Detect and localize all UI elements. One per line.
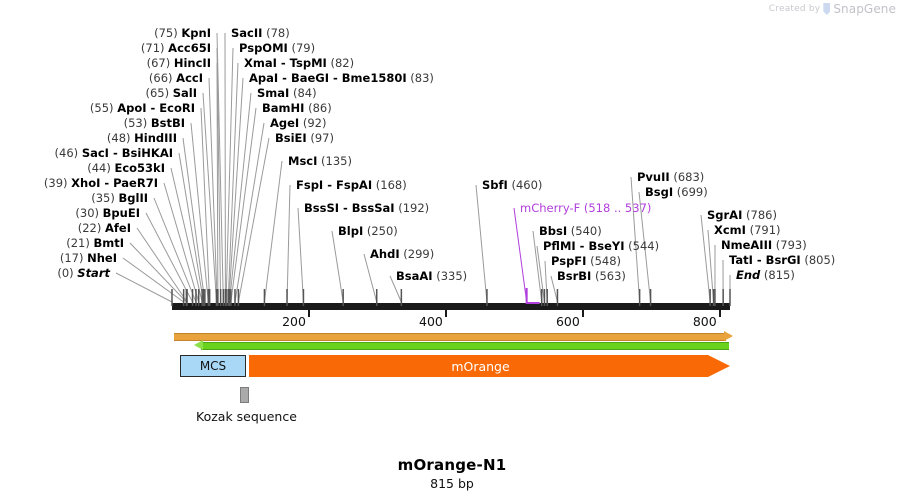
site-position: (17) bbox=[60, 251, 87, 265]
site-position: (786) bbox=[742, 208, 777, 222]
site-position: (250) bbox=[363, 224, 398, 238]
site-label-bsssi-bsssai[interactable]: BssSI - BssSaI (192) bbox=[304, 202, 429, 215]
site-label-xmai-tspmi[interactable]: XmaI - TspMI (82) bbox=[244, 57, 354, 70]
feature-morange[interactable]: mOrange bbox=[249, 355, 730, 377]
site-label-acc65i[interactable]: (71) Acc65I bbox=[0, 42, 211, 55]
kozak-sequence-marker[interactable] bbox=[240, 387, 249, 403]
site-position: (563) bbox=[591, 269, 626, 283]
site-label-nhei[interactable]: (17) NheI bbox=[0, 252, 117, 265]
site-label-bsaai[interactable]: BsaAI (335) bbox=[396, 270, 467, 283]
site-label-end[interactable]: End (815) bbox=[736, 269, 795, 282]
site-position: (79) bbox=[288, 41, 315, 55]
site-position: (335) bbox=[433, 269, 468, 283]
site-position: (66) bbox=[149, 71, 176, 85]
ruler-tick bbox=[445, 310, 447, 317]
site-name: NheI bbox=[87, 251, 117, 265]
site-position: (460) bbox=[508, 178, 543, 192]
site-position: (82) bbox=[327, 56, 354, 70]
site-name: mCherry-F bbox=[520, 201, 580, 215]
site-name: AgeI bbox=[270, 116, 299, 130]
site-name: XmaI - TspMI bbox=[244, 56, 327, 70]
site-label-bsrbi[interactable]: BsrBI (563) bbox=[557, 270, 626, 283]
site-name: BsgI bbox=[645, 185, 673, 199]
site-label-xhoi-paer7i[interactable]: (39) XhoI - PaeR7I bbox=[0, 177, 158, 190]
ruler-tick-label: 400 bbox=[419, 314, 445, 329]
site-name: BssSI - BssSaI bbox=[304, 201, 395, 215]
site-name: PspOMI bbox=[239, 41, 288, 55]
site-position: (83) bbox=[407, 71, 434, 85]
ruler-tick bbox=[582, 310, 584, 317]
site-label-bsiei[interactable]: BsiEI (97) bbox=[275, 132, 334, 145]
feature-morange-label: mOrange bbox=[451, 359, 509, 374]
site-label-sgrai[interactable]: SgrAI (786) bbox=[707, 209, 777, 222]
site-position: (35) bbox=[91, 191, 118, 205]
site-position: (548) bbox=[586, 254, 621, 268]
site-position: (67) bbox=[147, 56, 174, 70]
site-position: (805) bbox=[801, 253, 836, 267]
ruler-tick bbox=[308, 310, 310, 317]
plasmid-name: mOrange-N1 bbox=[0, 456, 904, 474]
site-position: (815) bbox=[760, 268, 795, 282]
site-name: SacII bbox=[231, 26, 262, 40]
site-label-smai[interactable]: SmaI (84) bbox=[257, 87, 317, 100]
site-label-pspfi[interactable]: PspFI (548) bbox=[551, 255, 621, 268]
site-position: (84) bbox=[289, 86, 316, 100]
site-label-acci[interactable]: (66) AccI bbox=[0, 72, 203, 85]
site-name: BamHI bbox=[262, 101, 304, 115]
site-name: BpuEI bbox=[103, 206, 140, 220]
site-name: Acc65I bbox=[168, 41, 211, 55]
ruler-tick bbox=[719, 310, 721, 317]
site-name: PflMI - BseYI bbox=[543, 239, 624, 253]
site-label-blpi[interactable]: BlpI (250) bbox=[338, 225, 398, 238]
site-name: BsiEI bbox=[275, 131, 307, 145]
feature-track: MCS mOrange bbox=[0, 355, 904, 379]
site-name: BbsI bbox=[539, 224, 567, 238]
site-label-apoi-ecori[interactable]: (55) ApoI - EcoRI bbox=[0, 102, 195, 115]
site-label-hindiii[interactable]: (48) HindIII bbox=[0, 132, 177, 145]
plasmid-size: 815 bp bbox=[0, 476, 904, 491]
site-label-nmeaiii[interactable]: NmeAIII (793) bbox=[721, 239, 807, 252]
site-position: (48) bbox=[107, 131, 134, 145]
site-label-bsgi[interactable]: BsgI (699) bbox=[645, 186, 708, 199]
site-name: End bbox=[736, 268, 760, 282]
site-position: (44) bbox=[87, 161, 114, 175]
site-label-saci-bsihkai[interactable]: (46) SacI - BsiHKAI bbox=[0, 147, 173, 160]
site-label-fspi-fspai[interactable]: FspI - FspAI (168) bbox=[296, 179, 407, 192]
site-position: (21) bbox=[66, 236, 93, 250]
sequence-ruler: 200400600800 bbox=[0, 310, 904, 332]
site-position: (30) bbox=[75, 206, 102, 220]
site-name: AfeI bbox=[105, 221, 131, 235]
site-label-sacii[interactable]: SacII (78) bbox=[231, 27, 290, 40]
site-name: XhoI - PaeR7I bbox=[71, 176, 158, 190]
site-position: (683) bbox=[670, 170, 705, 184]
site-label-tati-bsrgi[interactable]: TatI - BsrGI (805) bbox=[729, 254, 835, 267]
feature-mcs[interactable]: MCS bbox=[180, 355, 246, 377]
site-label-bmti[interactable]: (21) BmtI bbox=[0, 237, 124, 250]
site-name: AhdI bbox=[370, 247, 400, 261]
site-label-sbfi[interactable]: SbfI (460) bbox=[482, 179, 542, 192]
site-label-kpni[interactable]: (75) KpnI bbox=[0, 27, 211, 40]
site-name: TatI - BsrGI bbox=[729, 253, 801, 267]
site-name: PspFI bbox=[551, 254, 586, 268]
site-position: (46) bbox=[55, 146, 82, 160]
site-name: BstBI bbox=[151, 116, 185, 130]
site-position: (55) bbox=[90, 101, 117, 115]
site-name: BmtI bbox=[93, 236, 124, 250]
site-name: XcmI bbox=[714, 223, 746, 237]
site-position: (39) bbox=[44, 176, 71, 190]
green-direction-arrow bbox=[201, 342, 729, 348]
site-label-mcherry-f[interactable]: mCherry-F (518 .. 537) bbox=[520, 202, 651, 215]
site-label-bglii[interactable]: (35) BglII bbox=[0, 192, 148, 205]
green-arrow-shaft bbox=[201, 342, 729, 350]
site-name: Eco53kI bbox=[114, 161, 165, 175]
site-name: AccI bbox=[176, 71, 203, 85]
site-position: (793) bbox=[772, 238, 807, 252]
site-name: SmaI bbox=[257, 86, 289, 100]
site-name: NmeAIII bbox=[721, 238, 772, 252]
site-position: (65) bbox=[145, 86, 172, 100]
site-tick-marks bbox=[0, 286, 904, 306]
site-label-bamhi[interactable]: BamHI (86) bbox=[262, 102, 332, 115]
ruler-tick-label: 800 bbox=[693, 314, 719, 329]
site-name: HindIII bbox=[134, 131, 177, 145]
site-name: SgrAI bbox=[707, 208, 742, 222]
ruler-tick-label: 600 bbox=[556, 314, 582, 329]
site-position: (518 .. 537) bbox=[580, 201, 651, 215]
site-label-apai-baegi-bme1580i[interactable]: ApaI - BaeGI - Bme1580I (83) bbox=[249, 72, 434, 85]
site-position: (53) bbox=[124, 116, 151, 130]
feature-mcs-label: MCS bbox=[200, 359, 226, 373]
site-position: (97) bbox=[307, 131, 334, 145]
site-label-sali[interactable]: (65) SalI bbox=[0, 87, 197, 100]
site-position: (78) bbox=[262, 26, 289, 40]
site-name: HincII bbox=[174, 56, 211, 70]
site-label-xcmi[interactable]: XcmI (791) bbox=[714, 224, 781, 237]
site-position: (135) bbox=[317, 154, 352, 168]
site-position: (168) bbox=[372, 178, 407, 192]
green-arrow-head bbox=[194, 340, 203, 350]
kozak-sequence-label: Kozak sequence bbox=[196, 409, 297, 424]
orange-arrow-shaft bbox=[174, 333, 726, 341]
site-label-ahdi[interactable]: AhdI (299) bbox=[370, 248, 434, 261]
site-name: SacI - BsiHKAI bbox=[82, 146, 173, 160]
site-label-eco53ki[interactable]: (44) Eco53kI bbox=[0, 162, 165, 175]
site-position: (71) bbox=[141, 41, 168, 55]
orange-direction-arrow bbox=[174, 333, 726, 339]
site-label-bpuei[interactable]: (30) BpuEI bbox=[0, 207, 140, 220]
site-position: (192) bbox=[395, 201, 430, 215]
site-label-start[interactable]: (0) Start bbox=[0, 267, 110, 280]
site-position: (22) bbox=[78, 221, 105, 235]
site-name: PvuII bbox=[637, 170, 670, 184]
site-label-hincii[interactable]: (67) HincII bbox=[0, 57, 211, 70]
site-name: BglII bbox=[119, 191, 149, 205]
title-block: mOrange-N1 815 bp bbox=[0, 456, 904, 491]
mcherry-f-marker[interactable] bbox=[527, 288, 540, 303]
site-label-msci[interactable]: MscI (135) bbox=[288, 155, 352, 168]
site-name: FspI - FspAI bbox=[296, 178, 372, 192]
site-name: BlpI bbox=[338, 224, 363, 238]
site-position: (699) bbox=[673, 185, 708, 199]
site-name: ApaI - BaeGI - Bme1580I bbox=[249, 71, 407, 85]
snapgene-map-canvas: Created by SnapGene (75) KpnI(71) Acc65I… bbox=[0, 0, 904, 498]
site-name: SbfI bbox=[482, 178, 508, 192]
site-name: Start bbox=[77, 266, 110, 280]
ruler-tick-label: 200 bbox=[282, 314, 308, 329]
site-position: (0) bbox=[57, 266, 77, 280]
site-label-agei[interactable]: AgeI (92) bbox=[270, 117, 326, 130]
site-name: ApoI - EcoRI bbox=[117, 101, 195, 115]
site-label-bbsi[interactable]: BbsI (540) bbox=[539, 225, 602, 238]
site-position: (86) bbox=[304, 101, 331, 115]
site-position: (75) bbox=[154, 26, 181, 40]
site-label-pspomi[interactable]: PspOMI (79) bbox=[239, 42, 315, 55]
site-name: BsaAI bbox=[396, 269, 433, 283]
site-label-afei[interactable]: (22) AfeI bbox=[0, 222, 131, 235]
restriction-site-labels: (75) KpnI(71) Acc65I(67) HincII(66) AccI… bbox=[0, 0, 904, 300]
site-position: (92) bbox=[299, 116, 326, 130]
site-position: (299) bbox=[400, 247, 435, 261]
site-name: MscI bbox=[288, 154, 317, 168]
site-name: BsrBI bbox=[557, 269, 591, 283]
site-name: KpnI bbox=[181, 26, 211, 40]
site-label-pvuii[interactable]: PvuII (683) bbox=[637, 171, 704, 184]
site-position: (791) bbox=[746, 223, 781, 237]
site-label-bstbi[interactable]: (53) BstBI bbox=[0, 117, 185, 130]
site-position: (540) bbox=[567, 224, 602, 238]
orange-arrow-head bbox=[724, 331, 733, 341]
site-position: (544) bbox=[624, 239, 659, 253]
site-name: SalI bbox=[173, 86, 197, 100]
site-label-pflmi-bseyi[interactable]: PflMI - BseYI (544) bbox=[543, 240, 659, 253]
